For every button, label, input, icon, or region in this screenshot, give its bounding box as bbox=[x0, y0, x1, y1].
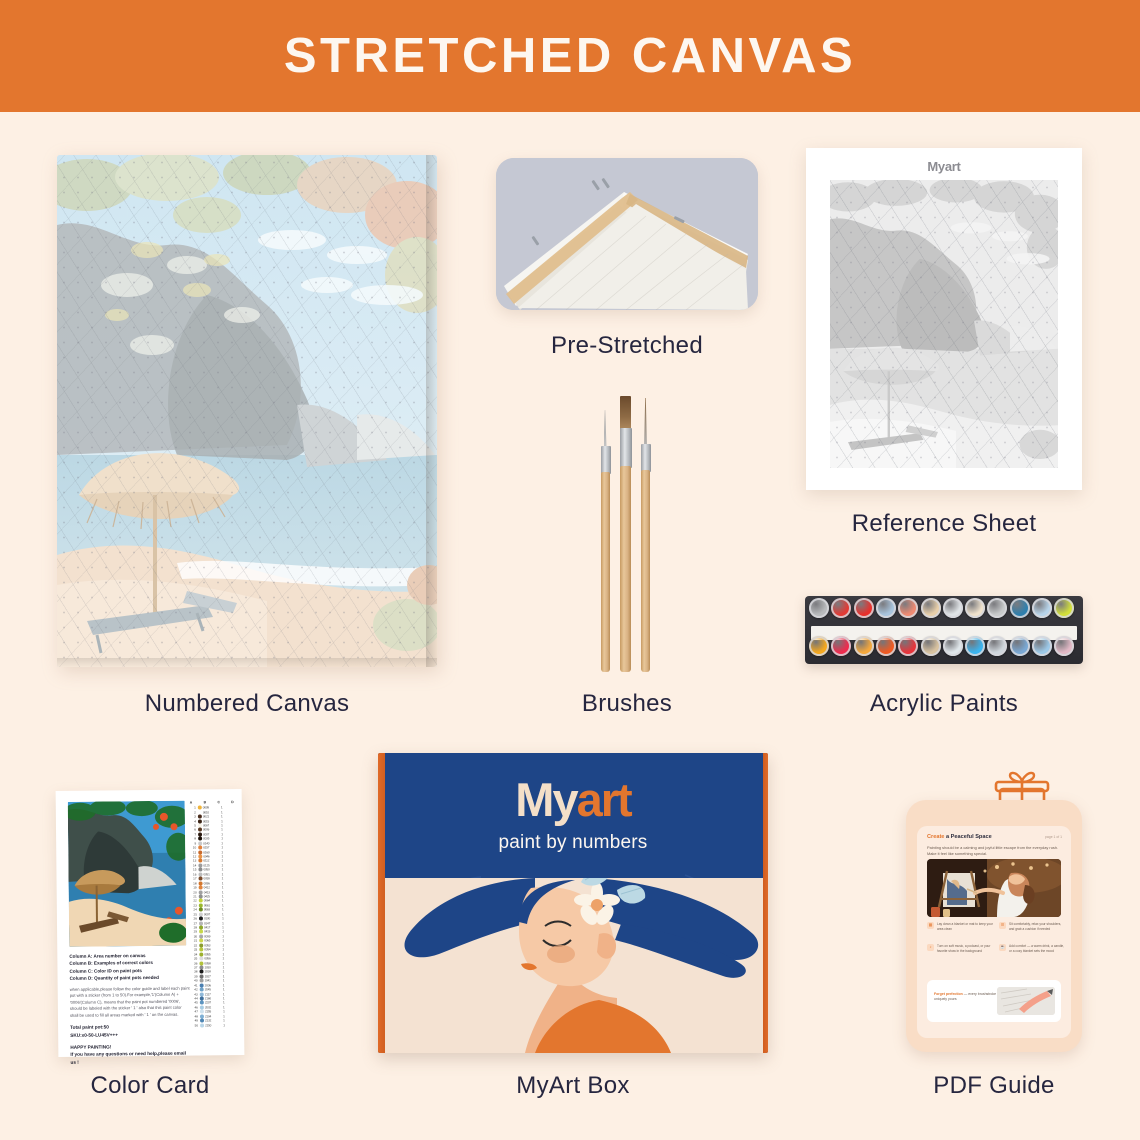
row-color-swatch bbox=[199, 1014, 203, 1018]
paint-pot bbox=[1032, 636, 1052, 656]
row-color-swatch bbox=[198, 863, 202, 867]
label-pdf-guide: PDF Guide bbox=[894, 1072, 1094, 1100]
col-head-b: B bbox=[204, 800, 206, 804]
canvas-artwork bbox=[57, 155, 437, 667]
pdf-tip-icon: ☰ bbox=[999, 922, 1006, 929]
row-color-swatch bbox=[198, 908, 202, 912]
row-color-swatch bbox=[199, 992, 203, 996]
paint-pot bbox=[1010, 598, 1030, 618]
pdf-callout-bold: Forget perfection bbox=[934, 992, 963, 996]
paint-pot bbox=[854, 636, 874, 656]
pdf-tip-item: ♪Turn on soft music, a podcast, or your … bbox=[927, 944, 993, 953]
paint-pot bbox=[1054, 598, 1074, 618]
color-card-legend: Column A: Area number on canvas Column B… bbox=[69, 952, 190, 1066]
row-quantity: 1 bbox=[220, 885, 225, 889]
numbered-canvas-image bbox=[57, 155, 437, 667]
paint-pot bbox=[943, 598, 963, 618]
row-color-swatch bbox=[199, 996, 203, 1000]
color-card-row: 5021501 bbox=[191, 1023, 237, 1028]
row-quantity: 1 bbox=[221, 934, 226, 938]
row-quantity: 1 bbox=[220, 912, 225, 916]
pdf-tip-item: ☰Sit comfortably, relax your shoulders, … bbox=[999, 922, 1065, 931]
pdf-tip-text: Turn on soft music, a podcast, or your f… bbox=[927, 944, 993, 953]
brush-ferrule bbox=[601, 446, 611, 474]
canvas-number-dots bbox=[57, 155, 437, 667]
color-card-table: A B C D 10009120010130021140015150067160… bbox=[189, 800, 237, 1027]
row-color-swatch bbox=[198, 850, 202, 854]
paint-pot bbox=[854, 598, 874, 618]
row-quantity: 1 bbox=[221, 939, 226, 943]
row-quantity: 1 bbox=[221, 930, 226, 934]
row-color-swatch bbox=[198, 841, 202, 845]
pdf-heading-accent: Create bbox=[927, 834, 944, 840]
contact-line: If you have any questions or need help,p… bbox=[70, 1050, 190, 1066]
row-color-swatch bbox=[198, 912, 202, 916]
sku-code: SKU:x0-50-LU45V+++ bbox=[70, 1030, 190, 1039]
paint-pot bbox=[965, 598, 985, 618]
brush-ferrule bbox=[641, 444, 651, 472]
pdf-tip-text: Sit comfortably, relax your shoulders, a… bbox=[999, 922, 1065, 931]
logo-art-text: art bbox=[577, 773, 631, 826]
row-quantity: 1 bbox=[220, 916, 225, 920]
paint-pot bbox=[831, 598, 851, 618]
row-color-swatch bbox=[198, 917, 202, 921]
brush-liner bbox=[641, 398, 650, 672]
legend-column-d: Column D: Quantity of paint pots needed bbox=[70, 974, 190, 983]
row-color-swatch bbox=[197, 815, 201, 819]
color-card-photo bbox=[68, 801, 187, 947]
row-quantity: 1 bbox=[221, 974, 226, 978]
row-color-swatch bbox=[199, 988, 203, 992]
brush-handle bbox=[641, 470, 650, 672]
paint-pot bbox=[943, 636, 963, 656]
paint-pot bbox=[921, 598, 941, 618]
brush-tip-round bbox=[604, 410, 607, 446]
row-color-swatch bbox=[199, 979, 203, 983]
row-color-swatch bbox=[198, 890, 202, 894]
acrylic-paints-tray bbox=[805, 596, 1083, 664]
row-quantity: 1 bbox=[221, 987, 226, 991]
paint-pot bbox=[987, 598, 1007, 618]
row-color-swatch bbox=[199, 934, 203, 938]
pdf-callout-text: Forget perfection — every brushstroke is… bbox=[934, 992, 1004, 1002]
row-quantity: 1 bbox=[221, 947, 226, 951]
pdf-callout: Forget perfection — every brushstroke is… bbox=[927, 980, 1061, 1022]
row-color-swatch bbox=[199, 957, 203, 961]
reference-number-dots bbox=[830, 180, 1058, 468]
row-color-swatch bbox=[199, 948, 203, 952]
pre-stretched-image bbox=[496, 158, 758, 310]
row-color-swatch bbox=[199, 1005, 203, 1009]
row-quantity: 1 bbox=[221, 970, 226, 974]
row-quantity: 1 bbox=[221, 925, 226, 929]
row-color-swatch bbox=[198, 894, 202, 898]
paint-pot bbox=[809, 598, 829, 618]
label-pre-stretched: Pre-Stretched bbox=[496, 332, 758, 360]
pdf-callout-photo bbox=[997, 987, 1055, 1015]
row-quantity: 1 bbox=[220, 907, 225, 911]
myart-logo: Myart bbox=[378, 776, 768, 823]
paint-pot bbox=[898, 598, 918, 618]
row-color-swatch bbox=[198, 881, 202, 885]
pdf-tip-text: Add comfort — a warm drink, a candle, or… bbox=[999, 944, 1065, 953]
row-color-swatch bbox=[198, 837, 202, 841]
pdf-tip-text: Lay down a blanket or mat to keep your a… bbox=[927, 922, 993, 931]
row-quantity: 1 bbox=[221, 965, 226, 969]
pdf-tip-item: ▦Lay down a blanket or mat to keep your … bbox=[927, 922, 993, 931]
pdf-intro: Painting should be a calming and joyful … bbox=[927, 845, 1061, 856]
label-acrylic-paints: Acrylic Paints bbox=[806, 690, 1082, 718]
row-color-swatch bbox=[199, 961, 203, 965]
pdf-callout-photo-svg bbox=[997, 987, 1055, 1015]
page-header: STRETCHED CANVAS bbox=[0, 0, 1140, 112]
reference-sheet-artwork bbox=[830, 180, 1058, 468]
row-color-swatch bbox=[198, 921, 202, 925]
pdf-tip-icon: ♪ bbox=[927, 944, 934, 951]
row-color-swatch bbox=[199, 939, 203, 943]
reference-sheet-image: Myart bbox=[806, 148, 1082, 490]
row-quantity: 1 bbox=[220, 921, 225, 925]
pdf-guide-image: Create a Peaceful Space page 1 of 1 Pain… bbox=[906, 800, 1082, 1052]
reference-sheet-logo: Myart bbox=[806, 159, 1082, 174]
paint-pot bbox=[1010, 636, 1030, 656]
row-quantity: 1 bbox=[220, 894, 225, 898]
paint-pot bbox=[965, 636, 985, 656]
row-color-swatch bbox=[199, 952, 203, 956]
row-quantity: 1 bbox=[221, 978, 226, 982]
row-area-number: 50 bbox=[191, 1023, 198, 1027]
row-color-swatch bbox=[198, 886, 202, 890]
row-color-swatch bbox=[198, 868, 202, 872]
pdf-page: Create a Peaceful Space page 1 of 1 Pain… bbox=[917, 826, 1071, 1038]
row-quantity: 1 bbox=[220, 881, 225, 885]
paint-pot bbox=[876, 598, 896, 618]
row-quantity: 1 bbox=[221, 952, 226, 956]
row-color-swatch bbox=[198, 903, 202, 907]
page-title: STRETCHED CANVAS bbox=[284, 28, 856, 84]
row-color-swatch bbox=[200, 1023, 204, 1027]
label-numbered-canvas: Numbered Canvas bbox=[57, 690, 437, 718]
row-color-swatch bbox=[199, 925, 203, 929]
brush-handle bbox=[620, 466, 631, 672]
brush-ferrule bbox=[620, 428, 632, 468]
row-quantity: 1 bbox=[221, 983, 226, 987]
brush-tip-liner bbox=[644, 398, 647, 446]
label-reference-sheet: Reference Sheet bbox=[806, 510, 1082, 538]
row-color-swatch bbox=[197, 806, 201, 810]
row-color-swatch bbox=[198, 854, 202, 858]
pdf-heading: Create a Peaceful Space bbox=[927, 834, 992, 840]
row-color-swatch bbox=[197, 819, 201, 823]
row-color-swatch bbox=[198, 846, 202, 850]
row-color-swatch bbox=[199, 943, 203, 947]
row-color-swatch bbox=[199, 974, 203, 978]
row-color-swatch bbox=[198, 832, 202, 836]
col-head-a: A bbox=[190, 801, 192, 805]
pdf-tip-item: ☕Add comfort — a warm drink, a candle, o… bbox=[999, 944, 1065, 953]
row-quantity: 1 bbox=[221, 943, 226, 947]
row-quantity: 1 bbox=[222, 1023, 227, 1027]
label-myart-box: MyArt Box bbox=[378, 1072, 768, 1100]
brush-tip-flat bbox=[620, 396, 631, 430]
col-head-d: D bbox=[231, 800, 233, 804]
row-quantity: 1 bbox=[220, 890, 225, 894]
color-card-scene-svg bbox=[68, 801, 187, 947]
paint-pot bbox=[809, 636, 829, 656]
paint-pot bbox=[987, 636, 1007, 656]
row-color-swatch bbox=[200, 1019, 204, 1023]
pdf-page-number: page 1 of 1 bbox=[1045, 835, 1062, 839]
logo-my-text: My bbox=[515, 773, 576, 826]
box-woman-svg bbox=[385, 878, 763, 1053]
col-head-c: C bbox=[217, 800, 219, 804]
canvas-side-edge bbox=[426, 155, 437, 667]
color-card-image: Column A: Area number on canvas Column B… bbox=[56, 789, 245, 1057]
box-subtitle: paint by numbers bbox=[378, 832, 768, 854]
brush-handle bbox=[601, 472, 610, 672]
brush-flat bbox=[620, 396, 631, 672]
pdf-photo-svg bbox=[927, 859, 1061, 917]
pre-stretched-svg bbox=[496, 158, 758, 310]
label-brushes: Brushes bbox=[496, 690, 758, 718]
pdf-tip-icon: ☕ bbox=[999, 944, 1006, 951]
paint-pot bbox=[1054, 636, 1074, 656]
paint-pot bbox=[831, 636, 851, 656]
pdf-heading-rest: a Peaceful Space bbox=[944, 834, 991, 840]
legend-paragraph: when applicable,please follow the color … bbox=[70, 985, 190, 1019]
row-quantity: 1 bbox=[220, 899, 225, 903]
box-illustration bbox=[385, 878, 763, 1053]
row-color-id: 2150 bbox=[205, 1023, 220, 1027]
paint-pot bbox=[921, 636, 941, 656]
row-color-swatch bbox=[199, 1010, 203, 1014]
paint-pot bbox=[1032, 598, 1052, 618]
myart-box-image: Myart paint by numbers bbox=[378, 753, 768, 1053]
label-color-card: Color Card bbox=[45, 1072, 255, 1100]
paint-pot bbox=[898, 636, 918, 656]
row-color-swatch bbox=[198, 877, 202, 881]
canvas-bottom-edge bbox=[57, 658, 437, 667]
row-color-swatch bbox=[199, 965, 203, 969]
pdf-photo bbox=[927, 859, 1061, 917]
paint-pot bbox=[876, 636, 896, 656]
row-quantity: 1 bbox=[221, 956, 226, 960]
row-quantity: 1 bbox=[220, 903, 225, 907]
row-color-swatch bbox=[197, 810, 201, 814]
brush-round bbox=[601, 410, 610, 672]
row-quantity: 1 bbox=[221, 961, 226, 965]
row-color-swatch bbox=[199, 983, 203, 987]
row-color-swatch bbox=[198, 872, 202, 876]
pdf-tip-icon: ▦ bbox=[927, 922, 934, 929]
